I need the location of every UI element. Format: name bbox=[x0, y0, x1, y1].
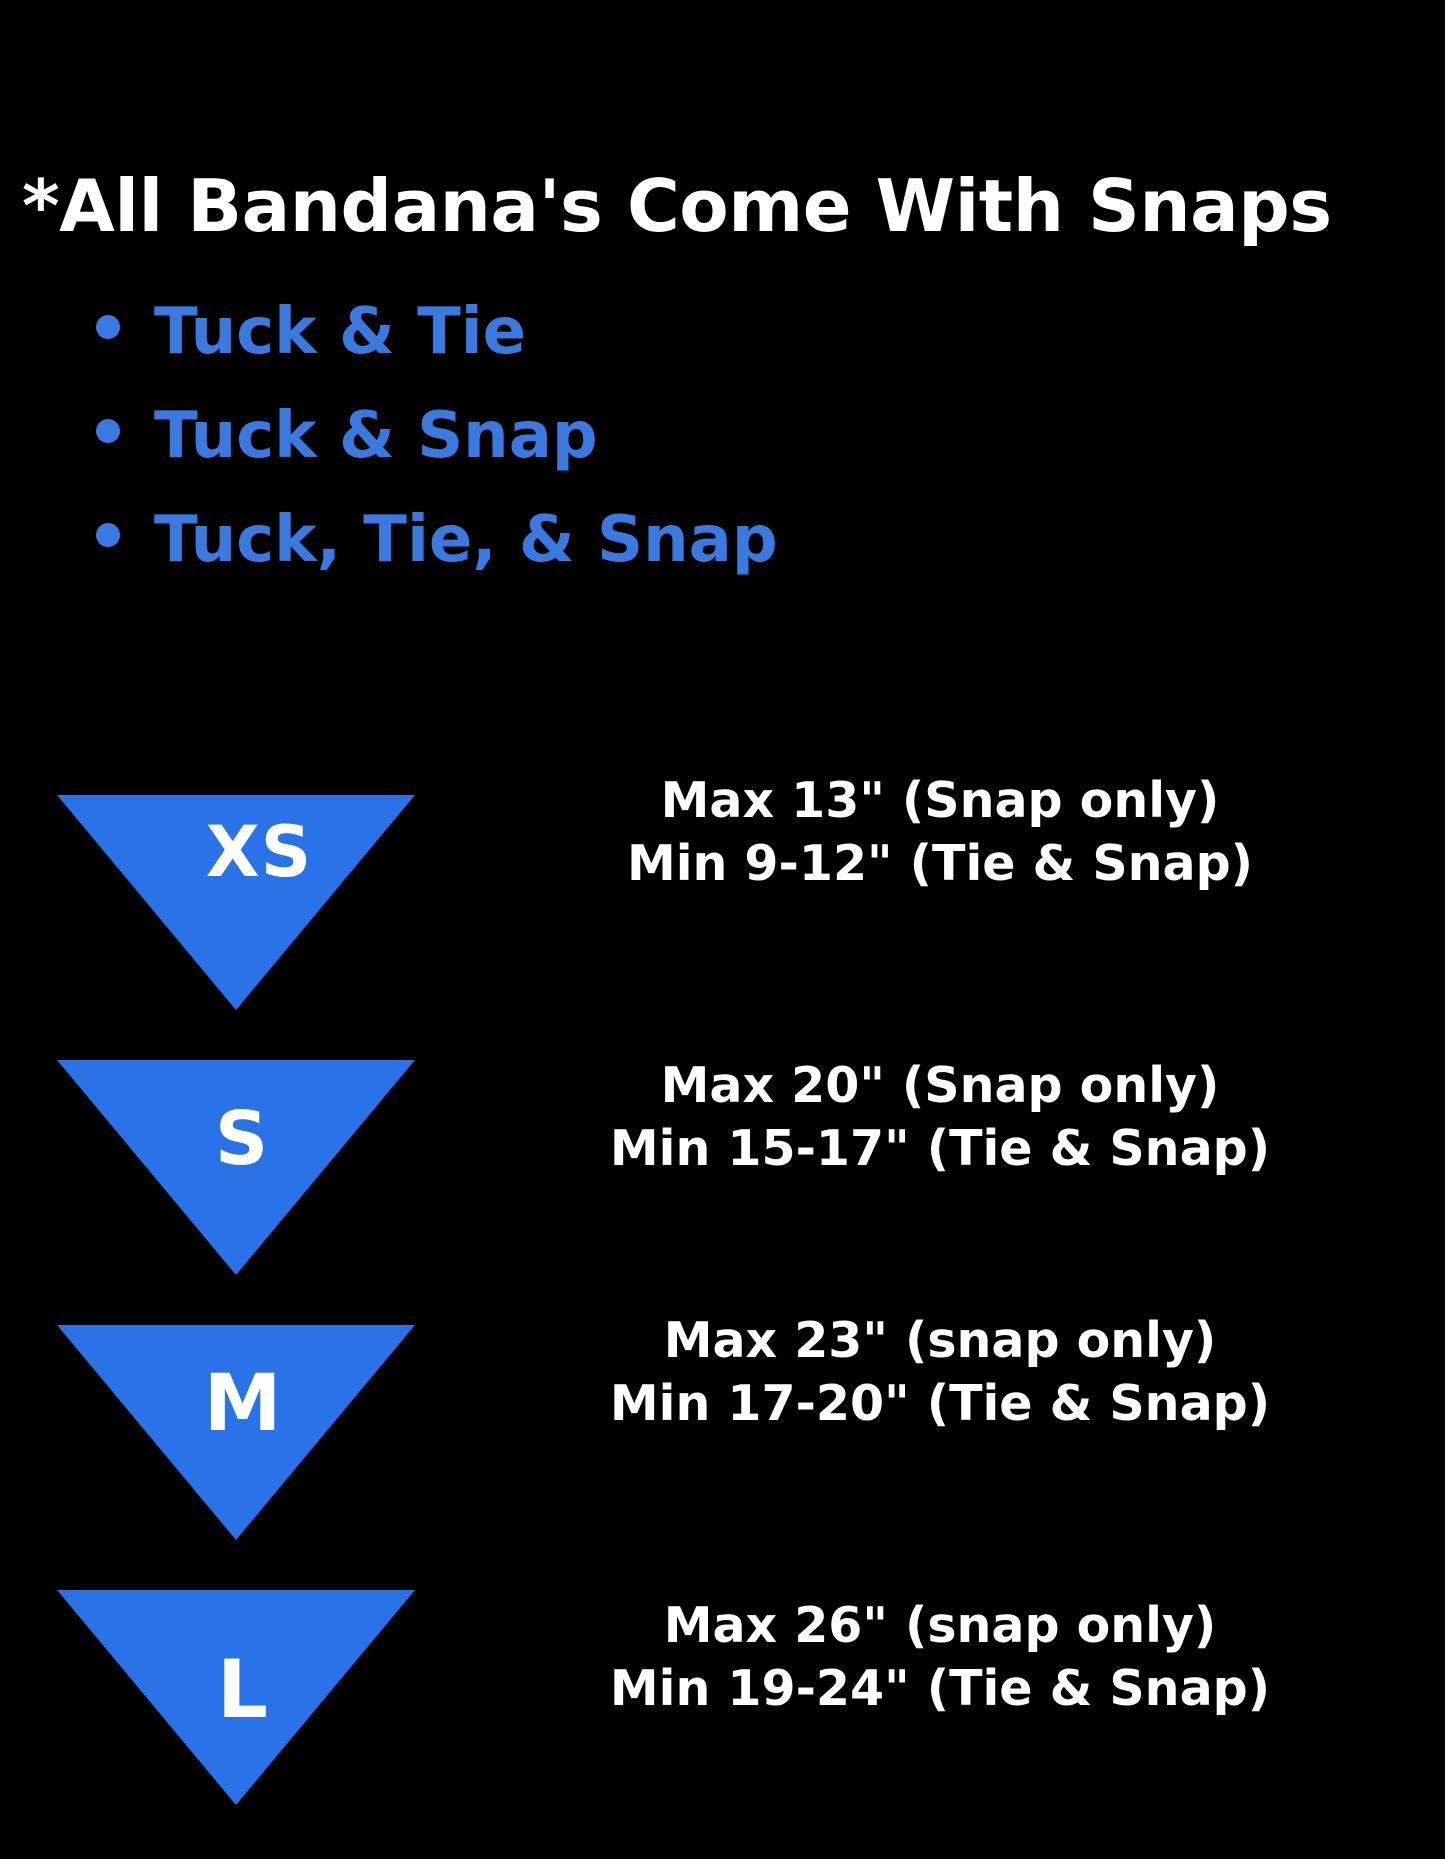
list-item: Tuck & Snap bbox=[96, 404, 1196, 508]
min-measurement: Min 17-20" (Tie & Snap) bbox=[440, 1373, 1440, 1436]
max-measurement: Max 26" (snap only) bbox=[440, 1595, 1440, 1658]
closure-option-label: Tuck & Snap bbox=[154, 404, 598, 468]
size-code-label: M bbox=[57, 1365, 415, 1443]
max-measurement: Max 23" (snap only) bbox=[440, 1310, 1440, 1373]
bullet-dot-icon bbox=[96, 523, 120, 547]
size-measurements-l: Max 26" (snap only) Min 19-24" (Tie & Sn… bbox=[440, 1595, 1440, 1720]
size-measurements-s: Max 20" (Snap only) Min 15-17" (Tie & Sn… bbox=[440, 1055, 1440, 1180]
size-code-label: XS bbox=[57, 817, 415, 887]
size-measurements-m: Max 23" (snap only) Min 17-20" (Tie & Sn… bbox=[440, 1310, 1440, 1435]
list-item: Tuck, Tie, & Snap bbox=[96, 508, 1196, 612]
size-row-l: L Max 26" (snap only) Min 19-24" (Tie & … bbox=[0, 1575, 1445, 1805]
min-measurement: Min 9-12" (Tie & Snap) bbox=[440, 833, 1440, 896]
bandana-triangle-xs: XS bbox=[57, 795, 415, 1010]
size-chart-page: *All Bandana's Come With Snaps Tuck & Ti… bbox=[0, 0, 1445, 1859]
closure-option-label: Tuck & Tie bbox=[154, 300, 526, 364]
closure-option-label: Tuck, Tie, & Snap bbox=[154, 508, 778, 572]
max-measurement: Max 13" (Snap only) bbox=[440, 770, 1440, 833]
size-row-xs: XS Max 13" (Snap only) Min 9-12" (Tie & … bbox=[0, 780, 1445, 1010]
size-code-label: L bbox=[57, 1650, 415, 1730]
bullet-dot-icon bbox=[96, 419, 120, 443]
bandana-triangle-l: L bbox=[57, 1590, 415, 1805]
size-measurements-xs: Max 13" (Snap only) Min 9-12" (Tie & Sna… bbox=[440, 770, 1440, 895]
bandana-triangle-m: M bbox=[57, 1325, 415, 1540]
max-measurement: Max 20" (Snap only) bbox=[440, 1055, 1440, 1118]
size-code-label: S bbox=[57, 1102, 415, 1176]
page-title: *All Bandana's Come With Snaps bbox=[22, 170, 1422, 242]
bullet-dot-icon bbox=[96, 315, 120, 339]
list-item: Tuck & Tie bbox=[96, 300, 1196, 404]
min-measurement: Min 19-24" (Tie & Snap) bbox=[440, 1658, 1440, 1721]
size-row-s: S Max 20" (Snap only) Min 15-17" (Tie & … bbox=[0, 1045, 1445, 1275]
closure-options-list: Tuck & Tie Tuck & Snap Tuck, Tie, & Snap bbox=[96, 300, 1196, 612]
min-measurement: Min 15-17" (Tie & Snap) bbox=[440, 1118, 1440, 1181]
bandana-triangle-s: S bbox=[57, 1060, 415, 1275]
size-row-m: M Max 23" (snap only) Min 17-20" (Tie & … bbox=[0, 1310, 1445, 1540]
